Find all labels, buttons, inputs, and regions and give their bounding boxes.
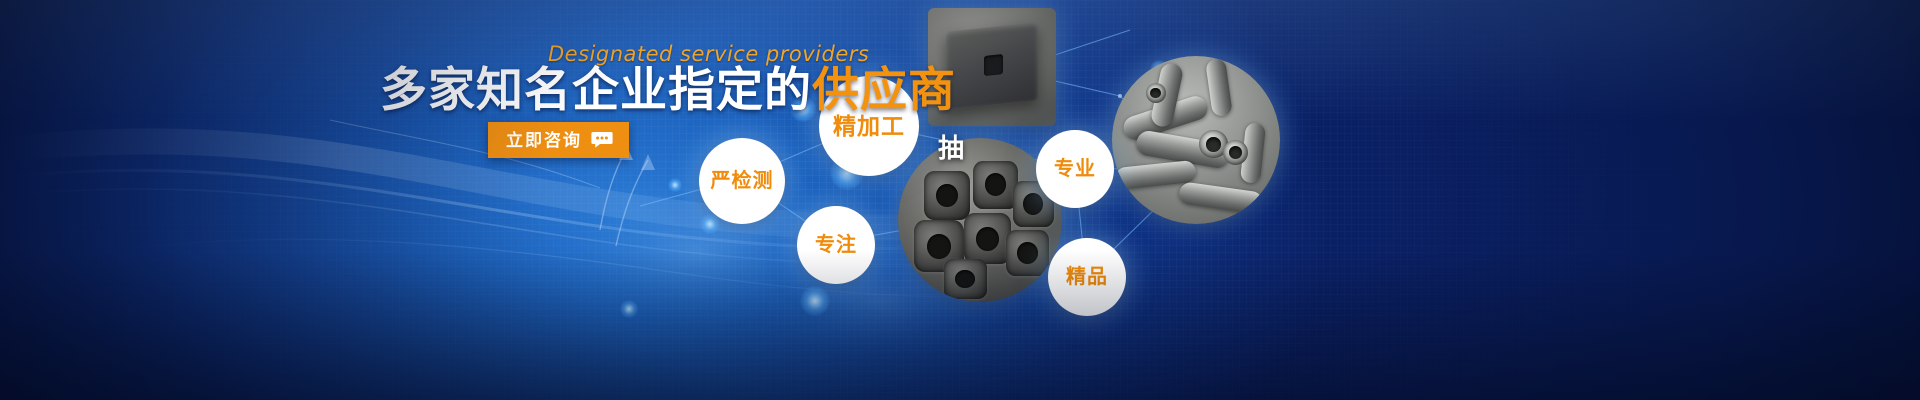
background-bottom-shade <box>0 250 1920 400</box>
hero-banner: 抽 严检测 精加工 专注 专业 精品 Designated service pr <box>0 0 1920 400</box>
